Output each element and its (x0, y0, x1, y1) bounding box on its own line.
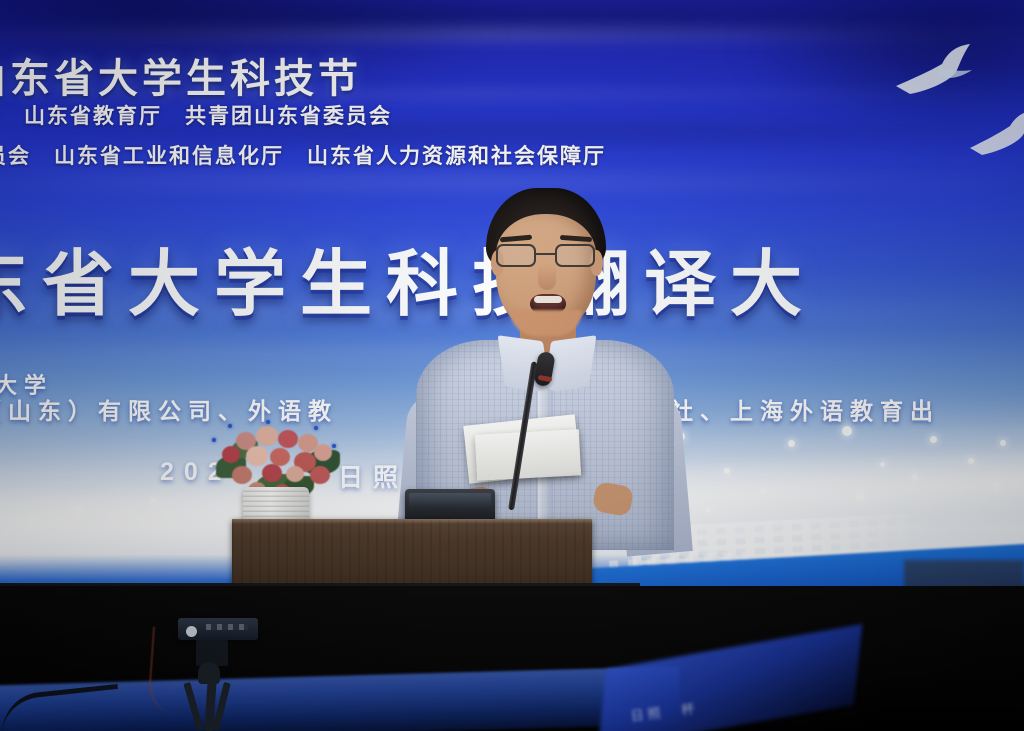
conference-photo: 山东省大学生科技节 会 山东省教育厅 共青团山东省委员会 委员会 山东省工业和信… (0, 0, 1024, 731)
eyeglass-lens-left (496, 244, 536, 267)
eyeglass-lens-right (555, 244, 595, 267)
camera-lens-icon (186, 626, 197, 637)
backdrop-org-line-2: 委员会 山东省工业和信息化厅 山东省人力资源和社会保障厅 (0, 140, 606, 170)
speaker-teeth (534, 296, 562, 303)
speaker-nose (538, 264, 556, 290)
camera-control-strip (206, 624, 248, 630)
backdrop-header-title: 山东省大学生科技节 (0, 46, 362, 104)
backdrop-vignette-top-right (737, 0, 1024, 132)
speech-paper (475, 429, 581, 480)
eyeglass-bridge (536, 253, 555, 255)
backdrop-org-line-1: 会 山东省教育厅 共青团山东省委员会 (0, 100, 392, 130)
